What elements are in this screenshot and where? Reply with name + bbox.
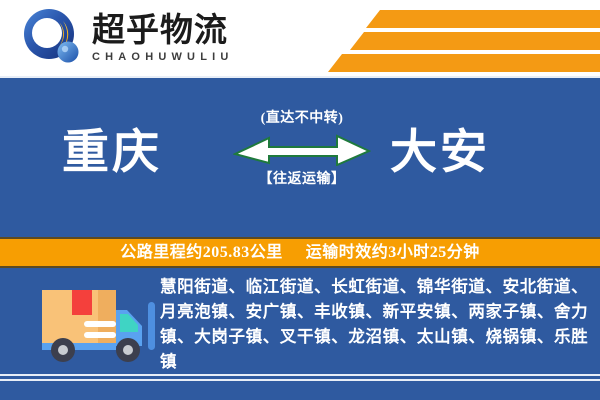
brand-name-cn: 超乎物流	[92, 12, 234, 48]
brand-lockup: 超乎物流 CHAOHUWULIU	[22, 6, 234, 70]
route-info-bar: 公路里程约205.83公里 运输时效约3小时25分钟	[0, 237, 600, 268]
route-arrow-group: (直达不中转) 【往返运输】	[228, 110, 376, 189]
brand-text-block: 超乎物流 CHAOHUWULIU	[92, 12, 234, 64]
duration-text: 运输时效约3小时25分钟	[306, 244, 480, 261]
origin-city: 重庆	[62, 126, 162, 180]
distance-text: 公路里程约205.83公里	[120, 244, 283, 261]
info-bar-content: 公路里程约205.83公里 运输时效约3小时25分钟	[120, 243, 480, 263]
footer-rule-top	[0, 374, 600, 376]
circle-q-logo-icon	[22, 7, 84, 69]
delivery-truck-icon	[28, 280, 146, 364]
route-note-roundtrip: 【往返运输】	[228, 171, 376, 189]
route-note-direct: (直达不中转)	[228, 110, 376, 128]
diagonal-stripes-icon	[270, 0, 600, 76]
route-banner: 重庆 (直达不中转) 【往返运输】 大安	[0, 76, 600, 239]
double-headed-arrow-icon	[228, 132, 376, 166]
brand-name-en: CHAOHUWULIU	[92, 50, 234, 64]
coverage-accent-bar	[148, 302, 155, 350]
destination-city: 大安	[390, 126, 490, 180]
poster-header: 超乎物流 CHAOHUWULIU	[0, 0, 600, 76]
logistics-route-poster: 超乎物流 CHAOHUWULIU 重庆 (直达不中转) 【往返运输】 大安	[0, 0, 600, 400]
footer-divider	[0, 374, 600, 381]
coverage-districts-text: 慧阳街道、临江街道、长虹街道、锦华街道、安北街道、月亮泡镇、安广镇、丰收镇、新平…	[160, 274, 588, 374]
footer-rule-bottom	[0, 379, 600, 381]
